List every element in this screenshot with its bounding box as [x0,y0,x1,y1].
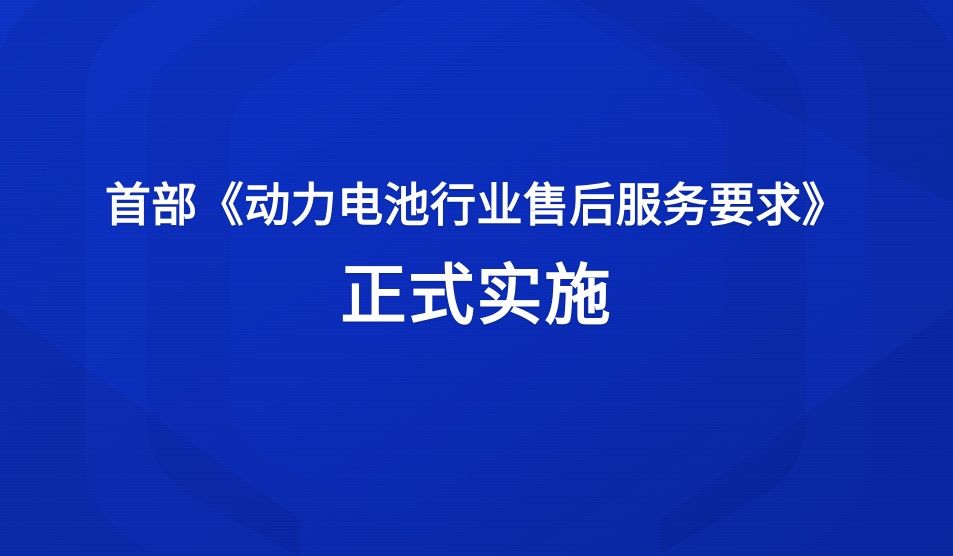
banner-canvas: 首部《动力电池行业售后服务要求》 正式实施 [0,0,953,556]
headline-line-2: 正式实施 [341,262,613,328]
headline-block: 首部《动力电池行业售后服务要求》 正式实施 [0,0,953,556]
headline-line-1: 首部《动力电池行业售后服务要求》 [105,182,848,228]
